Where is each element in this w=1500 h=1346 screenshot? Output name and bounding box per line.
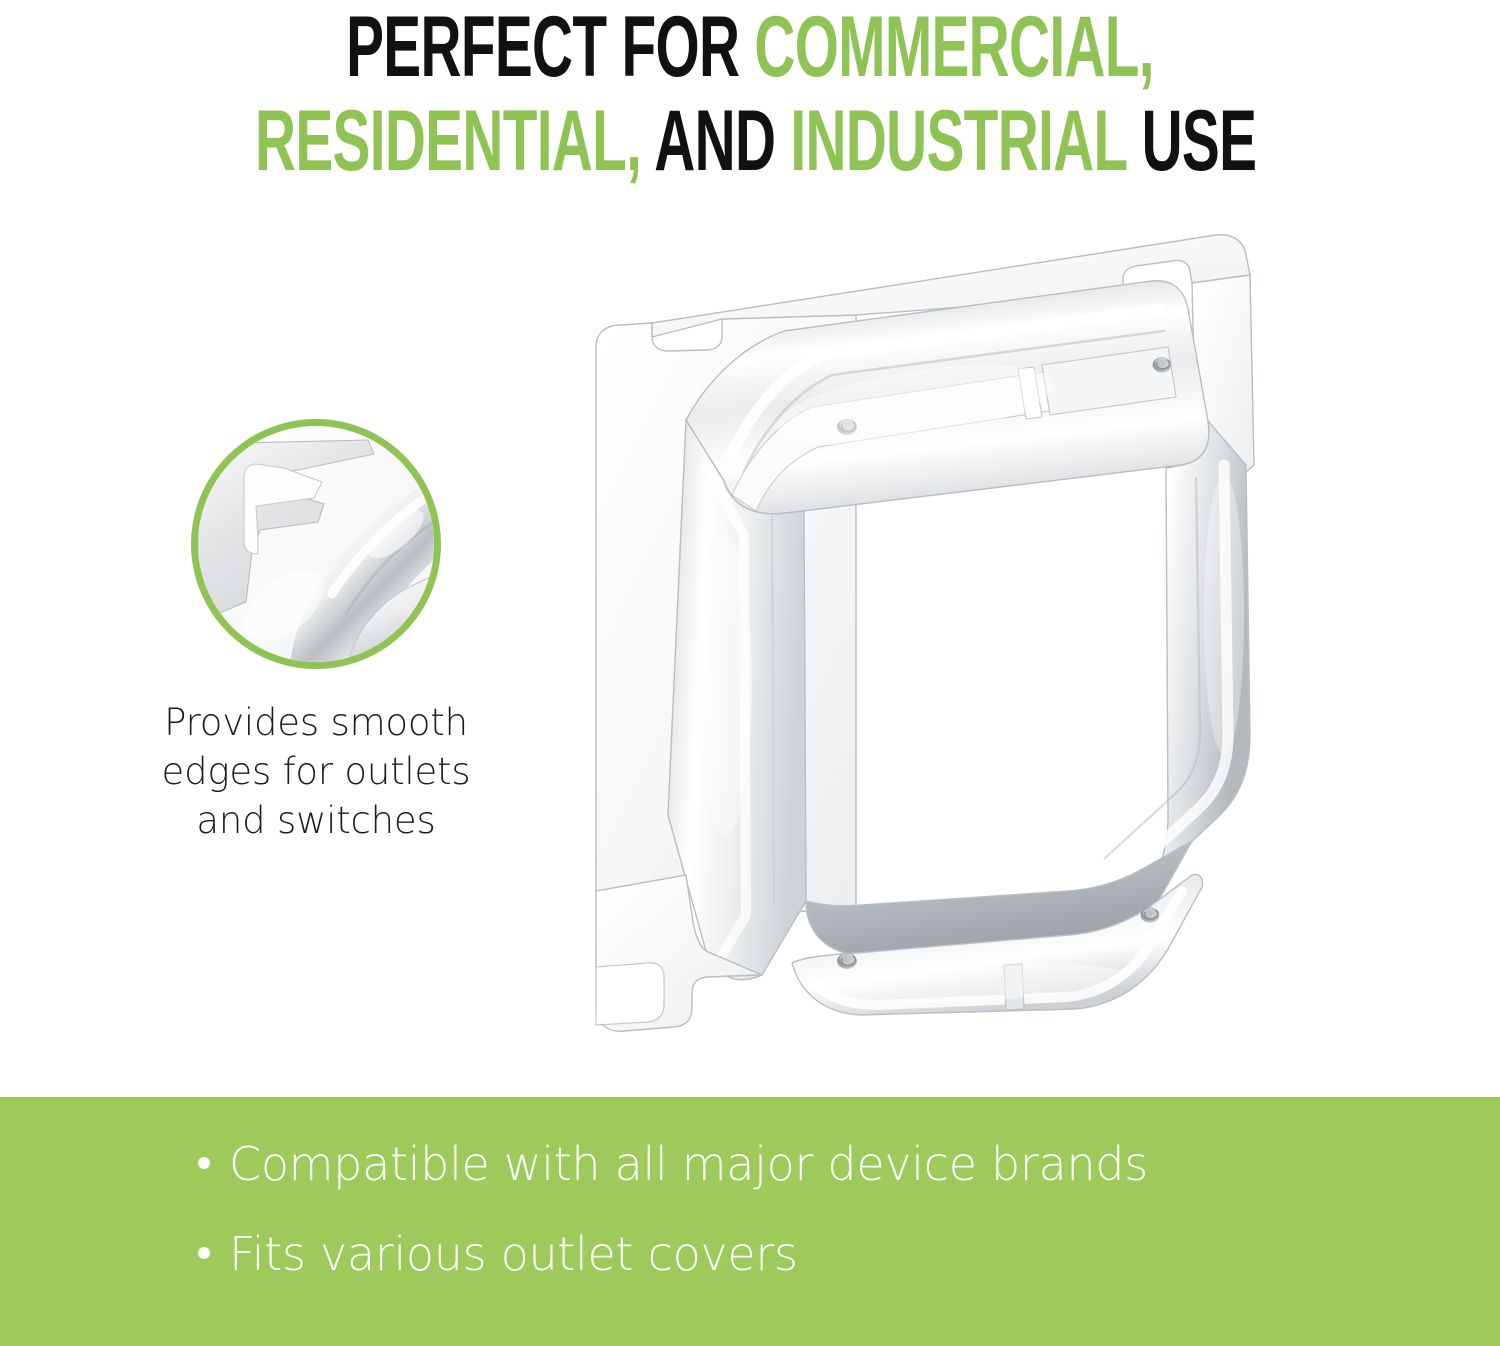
bullet-text: Compatible with all major device brands [229, 1133, 1148, 1195]
magnified-edge-detail-icon [198, 426, 434, 662]
detail-callout-ring [191, 419, 441, 669]
list-item: Compatible with all major device brands [198, 1133, 1398, 1195]
headline-line-1-black: PERFECT FOR [346, 0, 754, 95]
headline-line-2-black-2: USE [1126, 93, 1256, 189]
bullet-text: Fits various outlet covers [229, 1223, 798, 1285]
headline-line-2-green-2: INDUSTRIAL [790, 93, 1126, 189]
headline-line-2-black-1: AND [641, 93, 790, 189]
square-electrical-box-mud-ring-icon [556, 215, 1346, 1065]
product-image [556, 215, 1346, 1065]
headline-line-2: RESIDENTIAL, AND INDUSTRIAL USE [255, 92, 1245, 186]
bullet-dot-icon [198, 1247, 210, 1259]
product-infographic-page: PERFECT FOR COMMERCIAL, RESIDENTIAL, AND… [0, 0, 1500, 1346]
detail-callout-image [198, 426, 434, 662]
page-headline: PERFECT FOR COMMERCIAL, RESIDENTIAL, AND… [0, 0, 1500, 186]
caption-line-1: Provides smooth [120, 698, 512, 747]
feature-bullet-list: Compatible with all major device brands … [198, 1133, 1398, 1313]
bullet-dot-icon [198, 1157, 210, 1169]
feature-banner: Compatible with all major device brands … [0, 1097, 1500, 1346]
caption-line-2: edges for outlets [120, 747, 512, 796]
headline-line-1-green: COMMERCIAL, [754, 0, 1153, 95]
headline-line-1: PERFECT FOR COMMERCIAL, [255, 0, 1245, 92]
caption-line-3: and switches [120, 796, 512, 845]
detail-callout [191, 419, 441, 669]
detail-callout-caption: Provides smooth edges for outlets and sw… [120, 698, 512, 845]
headline-line-2-green-1: RESIDENTIAL, [255, 93, 641, 189]
list-item: Fits various outlet covers [198, 1223, 1398, 1285]
